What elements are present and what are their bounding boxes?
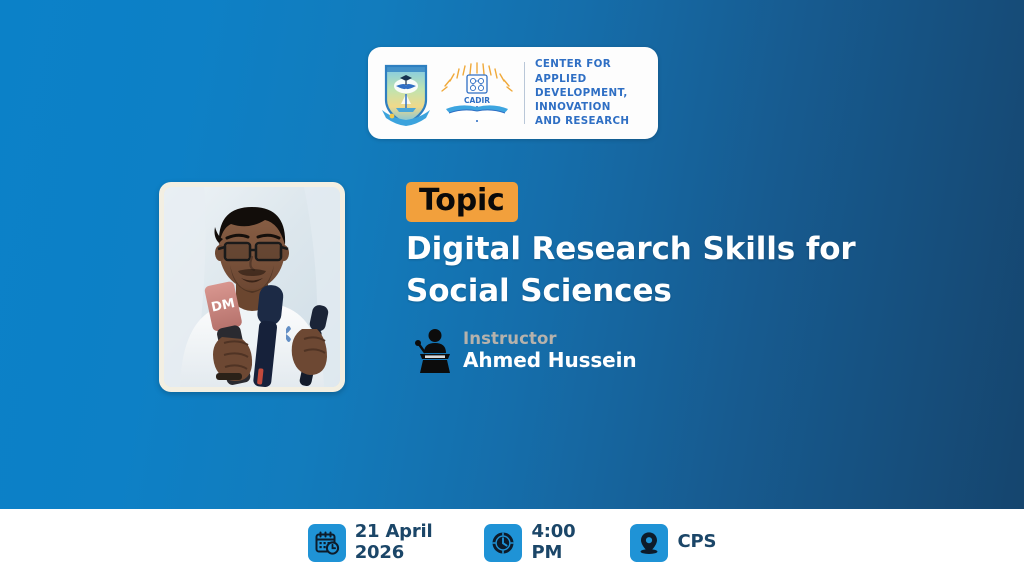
topic-badge: Topic [406, 182, 518, 222]
footer-item-location: CPS [630, 524, 716, 562]
footer-item-date: 21 April 2026 [308, 522, 433, 562]
footer-location-text: CPS [677, 532, 716, 552]
instructor-text: Instructor Ahmed Hussein [463, 330, 637, 373]
speaker-photo: DM [164, 187, 340, 387]
center-name: CENTER FOR APPLIED DEVELOPMENT, INNOVATI… [535, 57, 658, 128]
logo-card: CADIR CENTER FOR APPLIED DEVELOPMENT, IN… [368, 47, 658, 139]
footer-time-text: 4:00 PM [531, 522, 575, 562]
logo-divider [524, 62, 525, 124]
calendar-clock-icon [308, 524, 346, 562]
location-pin-icon [630, 524, 668, 562]
instructor-block: Instructor Ahmed Hussein [411, 327, 637, 375]
university-crest-icon [380, 60, 432, 126]
cadir-mark-text: CADIR [464, 96, 490, 105]
footer-bar: 21 April 2026 4:00 PM [0, 509, 1024, 576]
speaker-photo-frame: DM [159, 182, 345, 392]
podium-speaker-icon [411, 327, 455, 375]
page-title: Digital Research Skills for Social Scien… [406, 228, 966, 312]
instructor-name: Ahmed Hussein [463, 348, 637, 372]
event-poster: CADIR CENTER FOR APPLIED DEVELOPMENT, IN… [0, 0, 1024, 576]
footer-date-text: 21 April 2026 [355, 522, 433, 562]
cadir-sunburst-book-icon: CADIR [440, 61, 514, 125]
clock-icon [484, 524, 522, 562]
instructor-label: Instructor [463, 330, 637, 349]
footer-item-time: 4:00 PM [484, 522, 575, 562]
